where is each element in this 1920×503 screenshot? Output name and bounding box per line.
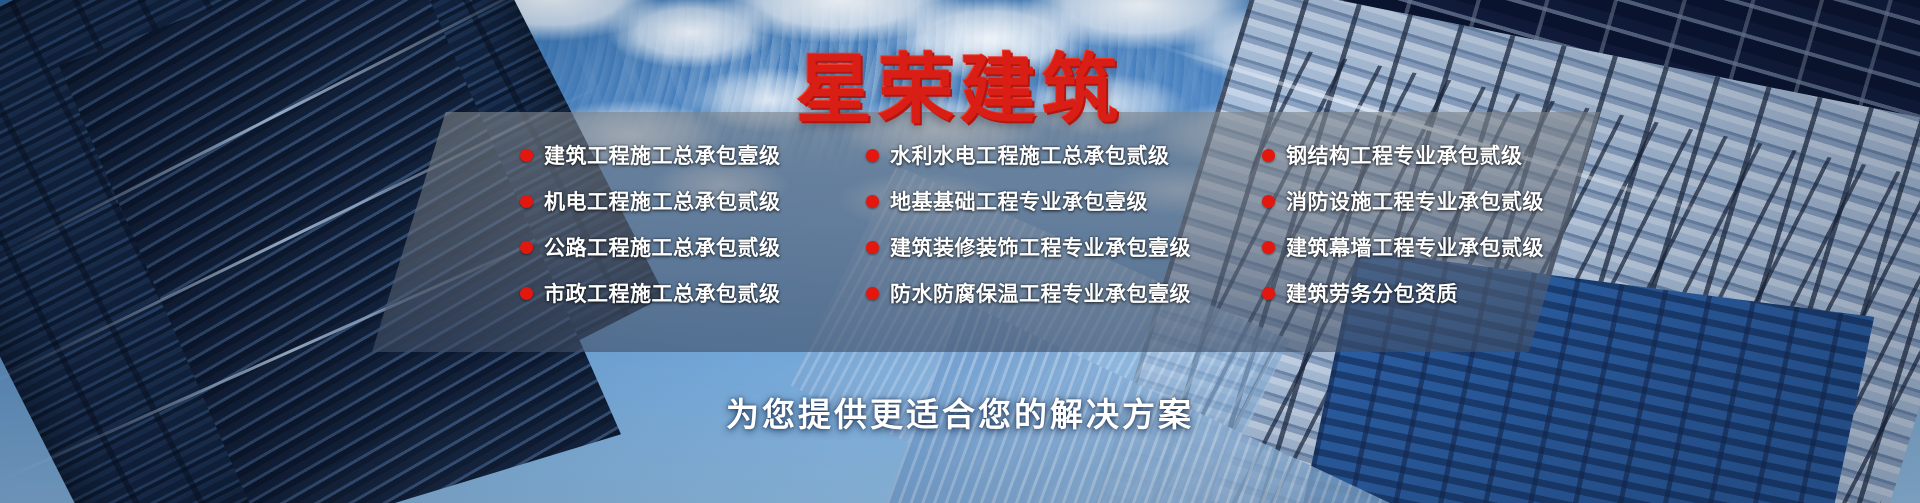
qualification-label: 防水防腐保温工程专业承包壹级: [890, 278, 1191, 308]
qualification-label: 钢结构工程专业承包贰级: [1286, 140, 1523, 170]
list-item: 公路工程施工总承包贰级: [520, 232, 850, 262]
hero-banner: 星荣建筑 建筑工程施工总承包壹级 机电工程施工总承包贰级 公路工程施工总承包贰级…: [0, 0, 1920, 503]
qualification-label: 市政工程施工总承包贰级: [544, 278, 781, 308]
list-item: 建筑劳务分包资质: [1262, 278, 1592, 308]
red-dot-icon: [866, 149, 879, 162]
qualification-label: 公路工程施工总承包贰级: [544, 232, 781, 262]
red-dot-icon: [520, 149, 533, 162]
list-item: 防水防腐保温工程专业承包壹级: [866, 278, 1236, 308]
red-dot-icon: [520, 287, 533, 300]
red-dot-icon: [1262, 149, 1275, 162]
qualification-label: 机电工程施工总承包贰级: [544, 186, 781, 216]
red-dot-icon: [1262, 287, 1275, 300]
list-item: 水利水电工程施工总承包贰级: [866, 140, 1236, 170]
red-dot-icon: [1262, 241, 1275, 254]
qualification-panel: 建筑工程施工总承包壹级 机电工程施工总承包贰级 公路工程施工总承包贰级 市政工程…: [372, 112, 1600, 352]
list-item: 钢结构工程专业承包贰级: [1262, 140, 1592, 170]
red-dot-icon: [520, 241, 533, 254]
list-item: 市政工程施工总承包贰级: [520, 278, 850, 308]
red-dot-icon: [520, 195, 533, 208]
list-item: 消防设施工程专业承包贰级: [1262, 186, 1592, 216]
red-dot-icon: [1262, 195, 1275, 208]
red-dot-icon: [866, 241, 879, 254]
list-item: 机电工程施工总承包贰级: [520, 186, 850, 216]
qualification-column-2: 水利水电工程施工总承包贰级 地基基础工程专业承包壹级 建筑装修装饰工程专业承包壹…: [866, 140, 1236, 352]
red-dot-icon: [866, 287, 879, 300]
qualification-label: 消防设施工程专业承包贰级: [1286, 186, 1544, 216]
qualification-label: 建筑装修装饰工程专业承包壹级: [890, 232, 1191, 262]
qualification-label: 地基基础工程专业承包壹级: [890, 186, 1148, 216]
qualification-label: 建筑幕墙工程专业承包贰级: [1286, 232, 1544, 262]
list-item: 地基基础工程专业承包壹级: [866, 186, 1236, 216]
list-item: 建筑幕墙工程专业承包贰级: [1262, 232, 1592, 262]
qualification-column-3: 钢结构工程专业承包贰级 消防设施工程专业承包贰级 建筑幕墙工程专业承包贰级 建筑…: [1262, 140, 1592, 352]
qualification-column-1: 建筑工程施工总承包壹级 机电工程施工总承包贰级 公路工程施工总承包贰级 市政工程…: [520, 140, 850, 352]
qualification-label: 建筑工程施工总承包壹级: [544, 140, 781, 170]
qualification-label: 建筑劳务分包资质: [1286, 278, 1458, 308]
qualification-label: 水利水电工程施工总承包贰级: [890, 140, 1170, 170]
list-item: 建筑装修装饰工程专业承包壹级: [866, 232, 1236, 262]
banner-slogan: 为您提供更适合您的解决方案: [0, 388, 1920, 436]
company-title: 星荣建筑: [0, 28, 1920, 138]
red-dot-icon: [866, 195, 879, 208]
list-item: 建筑工程施工总承包壹级: [520, 140, 850, 170]
